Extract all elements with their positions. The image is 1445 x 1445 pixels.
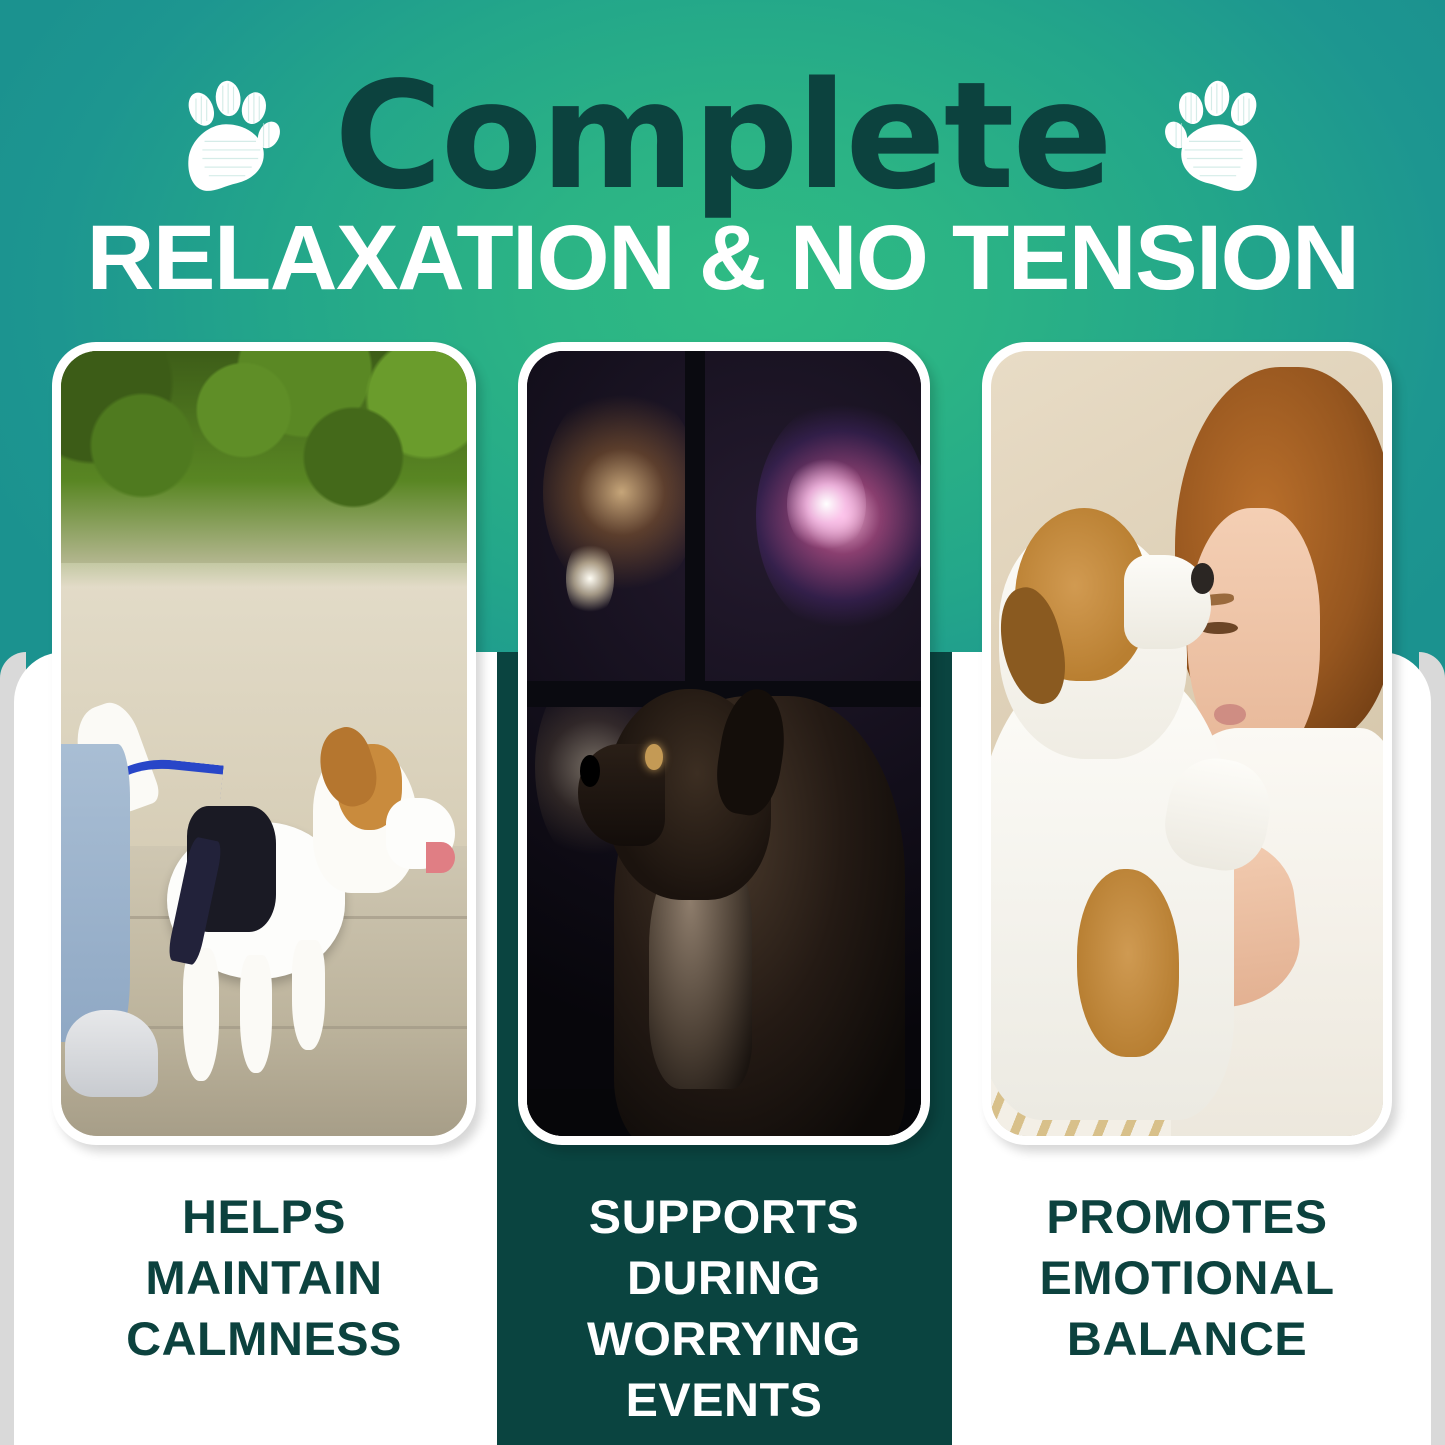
- photo-child-hugging-dog: [991, 351, 1383, 1136]
- photo-fireworks-window: [527, 351, 921, 1136]
- benefit-caption-promotes-emotional-balance: PROMOTES EMOTIONAL BALANCE: [976, 1186, 1398, 1369]
- benefit-caption-supports-during-worrying-events: SUPPORTS DURING WORRYING EVENTS: [512, 1186, 936, 1430]
- benefit-card-supports-during-worrying-events: [518, 342, 930, 1145]
- benefit-card-promotes-emotional-balance: [982, 342, 1392, 1145]
- photo-dog-on-leash: [61, 351, 467, 1136]
- benefit-card-helps-maintain-calmness: [52, 342, 476, 1145]
- promotional-poster: Complete RELAXATION & NO TEN: [0, 0, 1445, 1445]
- benefit-caption-helps-maintain-calmness: HELPS MAINTAIN CALMNESS: [46, 1186, 483, 1369]
